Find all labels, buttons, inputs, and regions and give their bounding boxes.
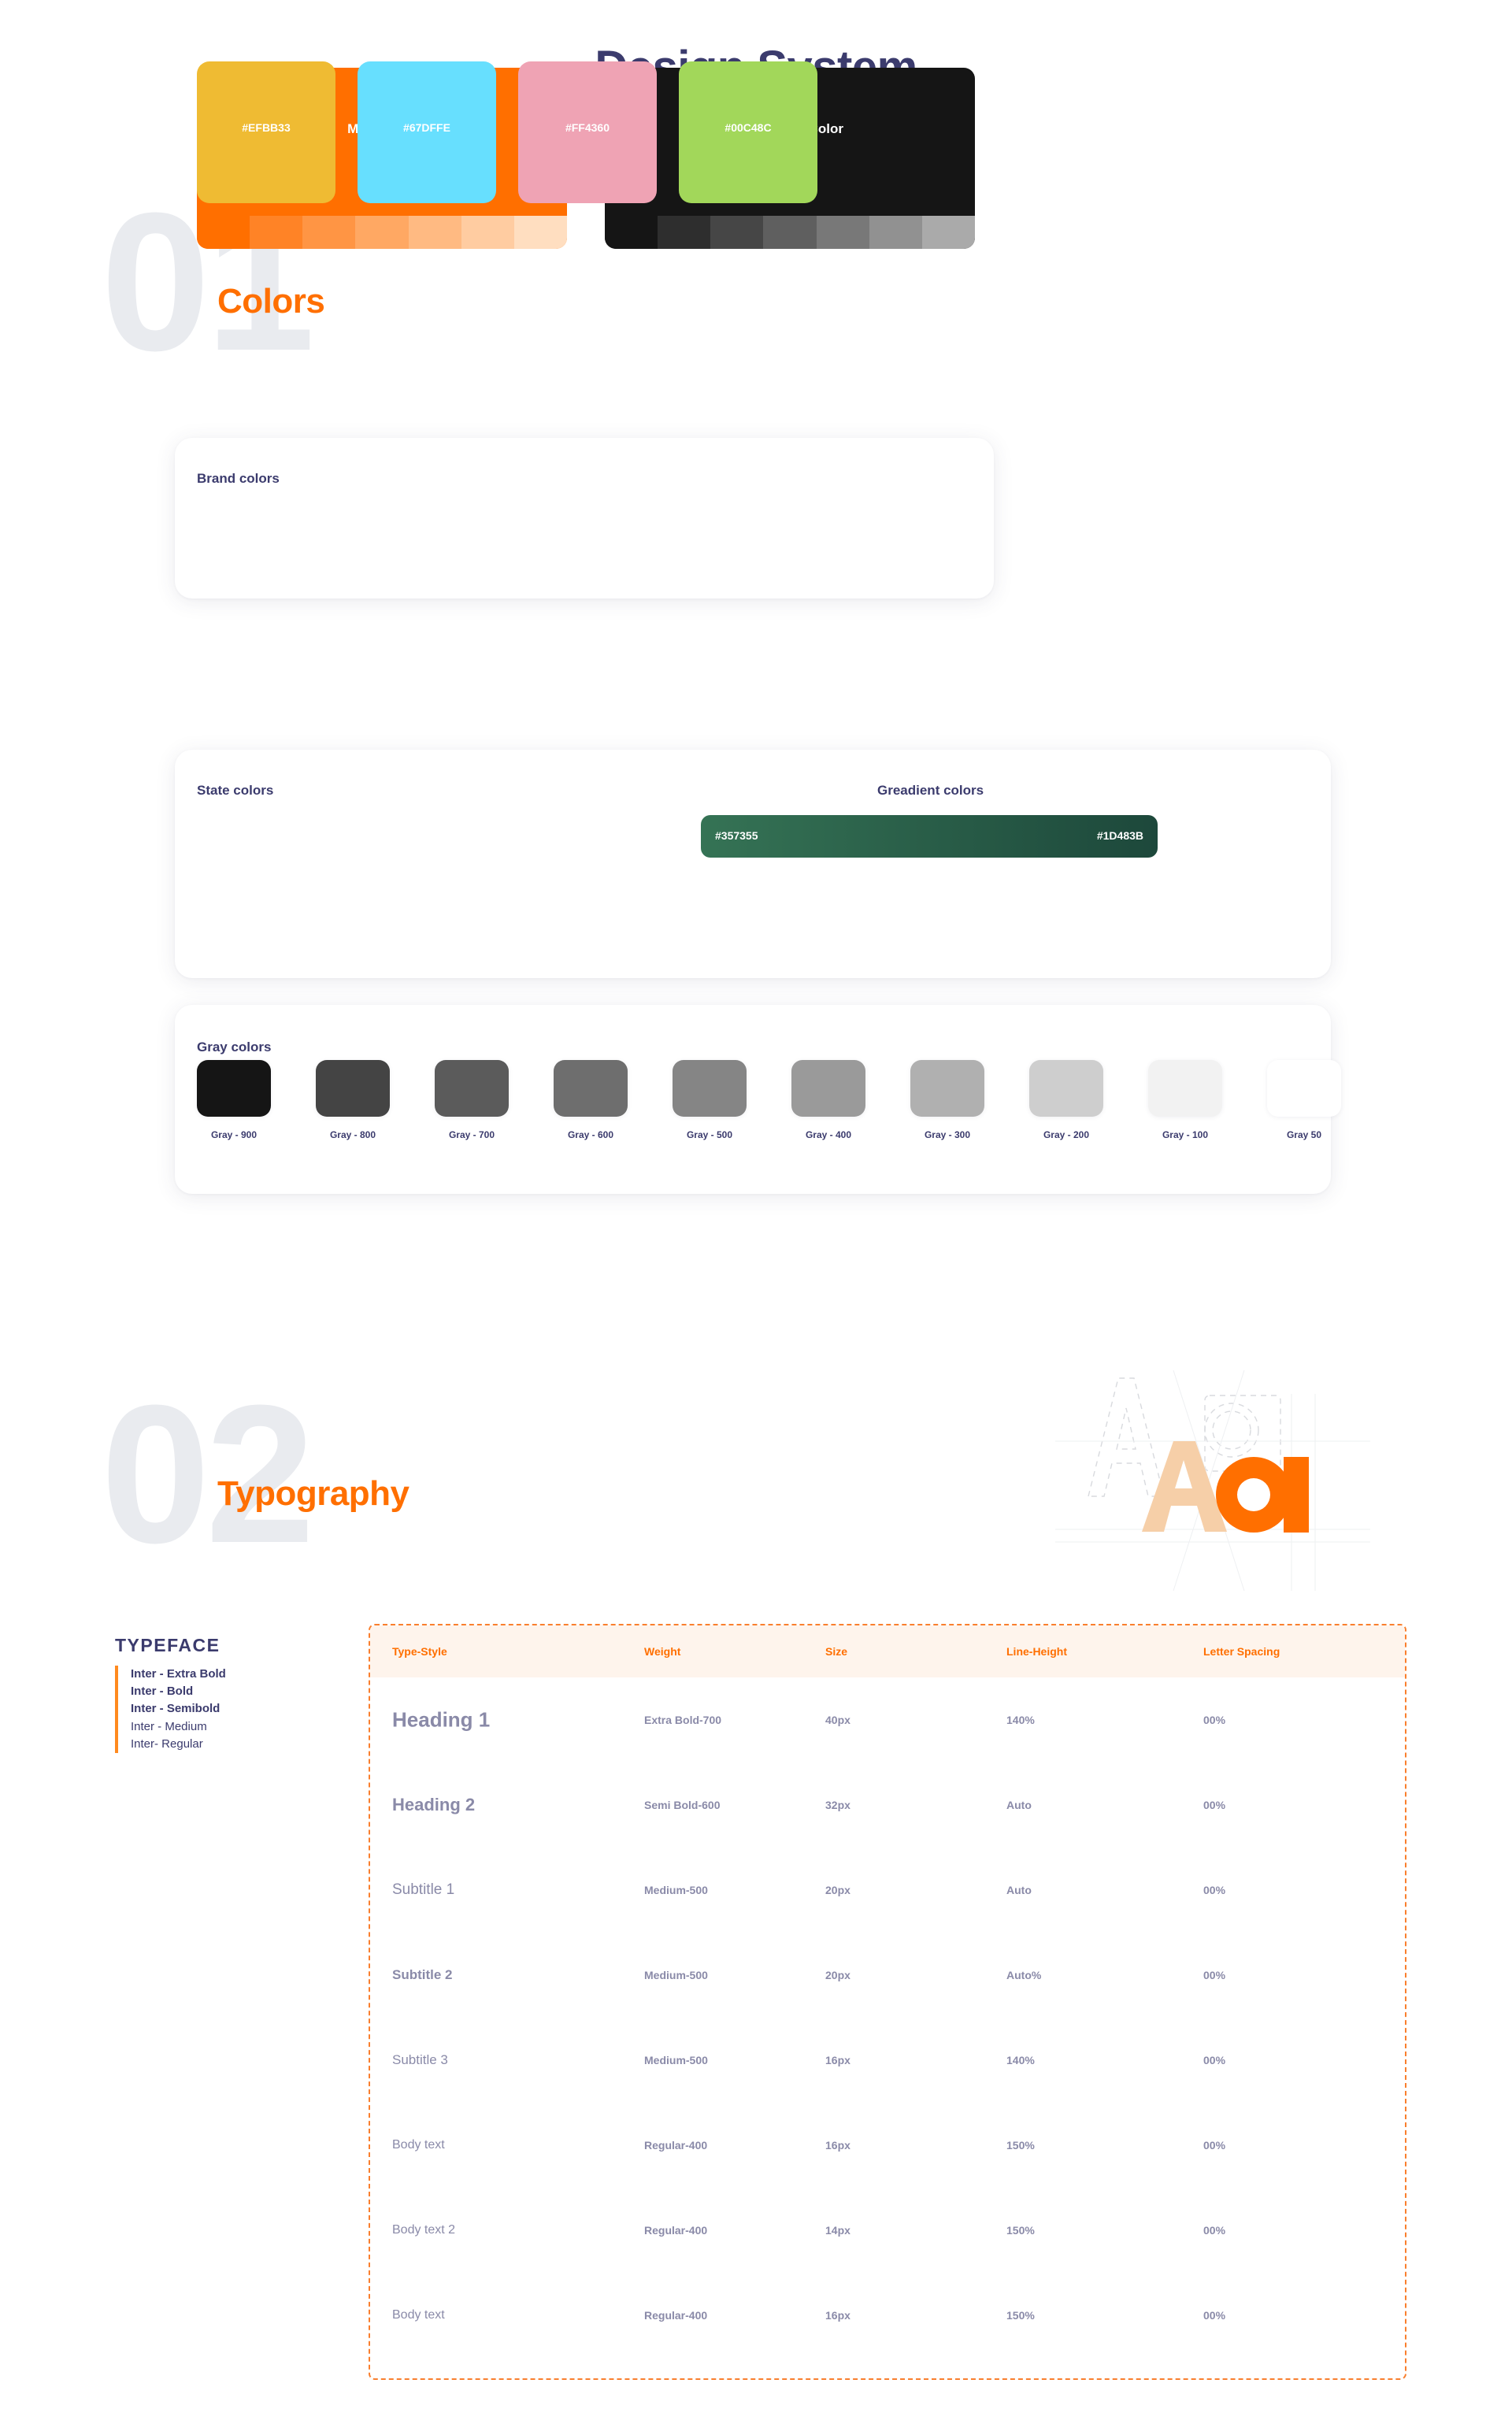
gray-colors-title: Gray colors (197, 1040, 272, 1055)
tint-step (710, 216, 763, 249)
typography-table-header: Type-Style Weight Size Line-Height Lette… (370, 1625, 1405, 1677)
cell-weight: Regular-400 (644, 2139, 707, 2152)
state-swatch-hex: #67DFFE (358, 121, 496, 134)
brand-colors-card (175, 438, 994, 599)
gradient-swatch[interactable]: #357355 #1D483B (701, 815, 1158, 858)
state-swatch-hex: #00C48C (679, 121, 817, 134)
gray-swatch-item[interactable]: Gray - 900 (197, 1060, 271, 1140)
table-row: Heading 2Semi Bold-60032pxAuto00% (370, 1762, 1405, 1848)
typeface-list: Inter - Extra BoldInter - BoldInter - Se… (115, 1666, 312, 1753)
typeface-title: TYPEFACE (115, 1635, 312, 1656)
gray-swatch-chip[interactable] (435, 1060, 509, 1117)
gradient-start-hex: #357355 (715, 829, 758, 842)
cell-type-style: Body text (392, 2308, 445, 2322)
gray-swatch-chip[interactable] (316, 1060, 390, 1117)
cell-line-height: Auto% (1006, 1969, 1041, 1981)
gradient-end-hex: #1D483B (1097, 829, 1143, 842)
gradient-colors-title: Greadient colors (877, 783, 984, 799)
cell-letter-spacing: 00% (1203, 1884, 1225, 1896)
typography-table: Type-Style Weight Size Line-Height Lette… (369, 1624, 1406, 2380)
section-label-typography: Typography (217, 1474, 409, 1514)
state-swatch-hex: #EFBB33 (197, 121, 335, 134)
cell-letter-spacing: 00% (1203, 2054, 1225, 2066)
cell-letter-spacing: 00% (1203, 1714, 1225, 1726)
cell-weight: Medium-500 (644, 1884, 708, 1896)
tint-step (461, 216, 514, 249)
gray-swatch-label: Gray - 100 (1148, 1129, 1222, 1140)
gray-swatch-chip[interactable] (1267, 1060, 1341, 1117)
design-system-page: Design System 01 Colors Brand colors Mai… (0, 0, 1512, 2424)
cell-type-style: Body text (392, 2138, 445, 2152)
tint-step (409, 216, 461, 249)
tint-step (869, 216, 922, 249)
gray-swatch-chip[interactable] (791, 1060, 865, 1117)
gray-swatch-label: Gray 50 (1267, 1129, 1341, 1140)
cell-type-style: Body text 2 (392, 2223, 455, 2237)
cell-type-style: Subtitle 1 (392, 1881, 454, 1899)
gray-swatch-label: Gray - 200 (1029, 1129, 1103, 1140)
cell-line-height: Auto (1006, 1884, 1032, 1896)
tint-step (922, 216, 975, 249)
cell-size: 20px (825, 1969, 850, 1981)
table-row: Body textRegular-40016px150%00% (370, 2273, 1405, 2358)
gray-swatch-label: Gray - 600 (554, 1129, 628, 1140)
state-colors-title: State colors (197, 783, 273, 799)
gray-swatch-chip[interactable] (1029, 1060, 1103, 1117)
col-header-letter-spacing: Letter Spacing (1203, 1645, 1280, 1658)
state-swatch[interactable]: #FF4360 (518, 61, 657, 203)
gray-swatch-chip[interactable] (197, 1060, 271, 1117)
gray-swatch-item[interactable]: Gray - 200 (1029, 1060, 1103, 1140)
tint-step (763, 216, 816, 249)
gray-swatch-label: Gray - 400 (791, 1129, 865, 1140)
tint-step (817, 216, 869, 249)
state-swatch-hex: #FF4360 (518, 121, 657, 134)
table-row: Subtitle 1Medium-50020pxAuto00% (370, 1848, 1405, 1933)
cell-letter-spacing: 00% (1203, 2139, 1225, 2152)
section-label-colors: Colors (217, 282, 324, 321)
gray-swatch-label: Gray - 700 (435, 1129, 509, 1140)
table-row: Body textRegular-40016px150%00% (370, 2103, 1405, 2188)
typeface-list-item: Inter - Medium (131, 1718, 312, 1736)
gray-swatch-item[interactable]: Gray - 500 (673, 1060, 747, 1140)
state-swatch[interactable]: #EFBB33 (197, 61, 335, 203)
cell-size: 32px (825, 1799, 850, 1811)
state-colors-card (175, 750, 1331, 978)
gray-swatch-label: Gray - 800 (316, 1129, 390, 1140)
gray-swatch-chip[interactable] (673, 1060, 747, 1117)
cell-type-style: Subtitle 2 (392, 1967, 453, 1983)
cell-size: 16px (825, 2309, 850, 2322)
gray-swatch-item[interactable]: Gray - 600 (554, 1060, 628, 1140)
cell-letter-spacing: 00% (1203, 2224, 1225, 2237)
cell-line-height: 150% (1006, 2309, 1035, 2322)
cell-line-height: 140% (1006, 2054, 1035, 2066)
typeface-list-item: Inter - Extra Bold (131, 1666, 312, 1683)
state-swatch[interactable]: #00C48C (679, 61, 817, 203)
tint-step (197, 216, 250, 249)
cell-size: 14px (825, 2224, 850, 2237)
table-row: Subtitle 3Medium-50016px140%00% (370, 2018, 1405, 2103)
state-swatch[interactable]: #67DFFE (358, 61, 496, 203)
cell-line-height: 150% (1006, 2139, 1035, 2152)
cell-weight: Semi Bold-600 (644, 1799, 720, 1811)
cell-size: 40px (825, 1714, 850, 1726)
cell-weight: Medium-500 (644, 2054, 708, 2066)
typeface-block: TYPEFACE Inter - Extra BoldInter - BoldI… (115, 1635, 312, 1753)
cell-line-height: 140% (1006, 1714, 1035, 1726)
cell-line-height: Auto (1006, 1799, 1032, 1811)
brand-colors-title: Brand colors (197, 471, 280, 487)
cell-type-style: Subtitle 3 (392, 2052, 448, 2068)
col-header-type-style: Type-Style (392, 1645, 447, 1658)
brand-swatch-main-tints (197, 216, 567, 249)
typeface-list-item: Inter - Semibold (131, 1700, 312, 1718)
gray-swatch-label: Gray - 300 (910, 1129, 984, 1140)
gray-swatch-item[interactable]: Gray - 100 (1148, 1060, 1222, 1140)
cell-type-style: Heading 1 (392, 1708, 490, 1733)
tint-step (658, 216, 710, 249)
col-header-size: Size (825, 1645, 847, 1658)
gray-swatch-label: Gray - 500 (673, 1129, 747, 1140)
gray-swatch-item[interactable]: Gray - 700 (435, 1060, 509, 1140)
cell-size: 16px (825, 2054, 850, 2066)
cell-letter-spacing: 00% (1203, 1799, 1225, 1811)
cell-letter-spacing: 00% (1203, 1969, 1225, 1981)
gray-swatch-chip[interactable] (910, 1060, 984, 1117)
brand-swatch-secondary-tints (605, 216, 975, 249)
cell-weight: Medium-500 (644, 1969, 708, 1981)
typeface-list-item: Inter- Regular (131, 1736, 312, 1753)
cell-weight: Regular-400 (644, 2309, 707, 2322)
gray-swatch-chip[interactable] (554, 1060, 628, 1117)
cell-type-style: Heading 2 (392, 1795, 475, 1815)
typeface-list-item: Inter - Bold (131, 1683, 312, 1700)
cell-weight: Extra Bold-700 (644, 1714, 721, 1726)
gray-swatch-item[interactable]: Gray - 400 (791, 1060, 865, 1140)
gray-swatch-label: Gray - 900 (197, 1129, 271, 1140)
decorative-aa-graphic (1055, 1362, 1370, 1599)
gray-swatch-chip[interactable] (1148, 1060, 1222, 1117)
tint-step (605, 216, 658, 249)
table-row: Subtitle 2Medium-50020pxAuto%00% (370, 1933, 1405, 2018)
tint-step (250, 216, 302, 249)
gray-swatch-item[interactable]: Gray - 800 (316, 1060, 390, 1140)
tint-step (514, 216, 567, 249)
col-header-weight: Weight (644, 1645, 680, 1658)
construction-guides (1055, 1370, 1370, 1591)
table-row: Heading 1Extra Bold-70040px140%00% (370, 1677, 1405, 1762)
cell-letter-spacing: 00% (1203, 2309, 1225, 2322)
section-heading-typography: 02 Typography (101, 1388, 652, 1569)
cell-size: 16px (825, 2139, 850, 2152)
tint-step (302, 216, 355, 249)
letter-a-lowercase (1216, 1457, 1309, 1533)
cell-size: 20px (825, 1884, 850, 1896)
gray-swatch-item[interactable]: Gray - 300 (910, 1060, 984, 1140)
cell-line-height: 150% (1006, 2224, 1035, 2237)
gray-swatch-item[interactable]: Gray 50 (1267, 1060, 1341, 1140)
table-row: Body text 2Regular-40014px150%00% (370, 2188, 1405, 2273)
cell-weight: Regular-400 (644, 2224, 707, 2237)
col-header-line-height: Line-Height (1006, 1645, 1067, 1658)
tint-step (355, 216, 408, 249)
